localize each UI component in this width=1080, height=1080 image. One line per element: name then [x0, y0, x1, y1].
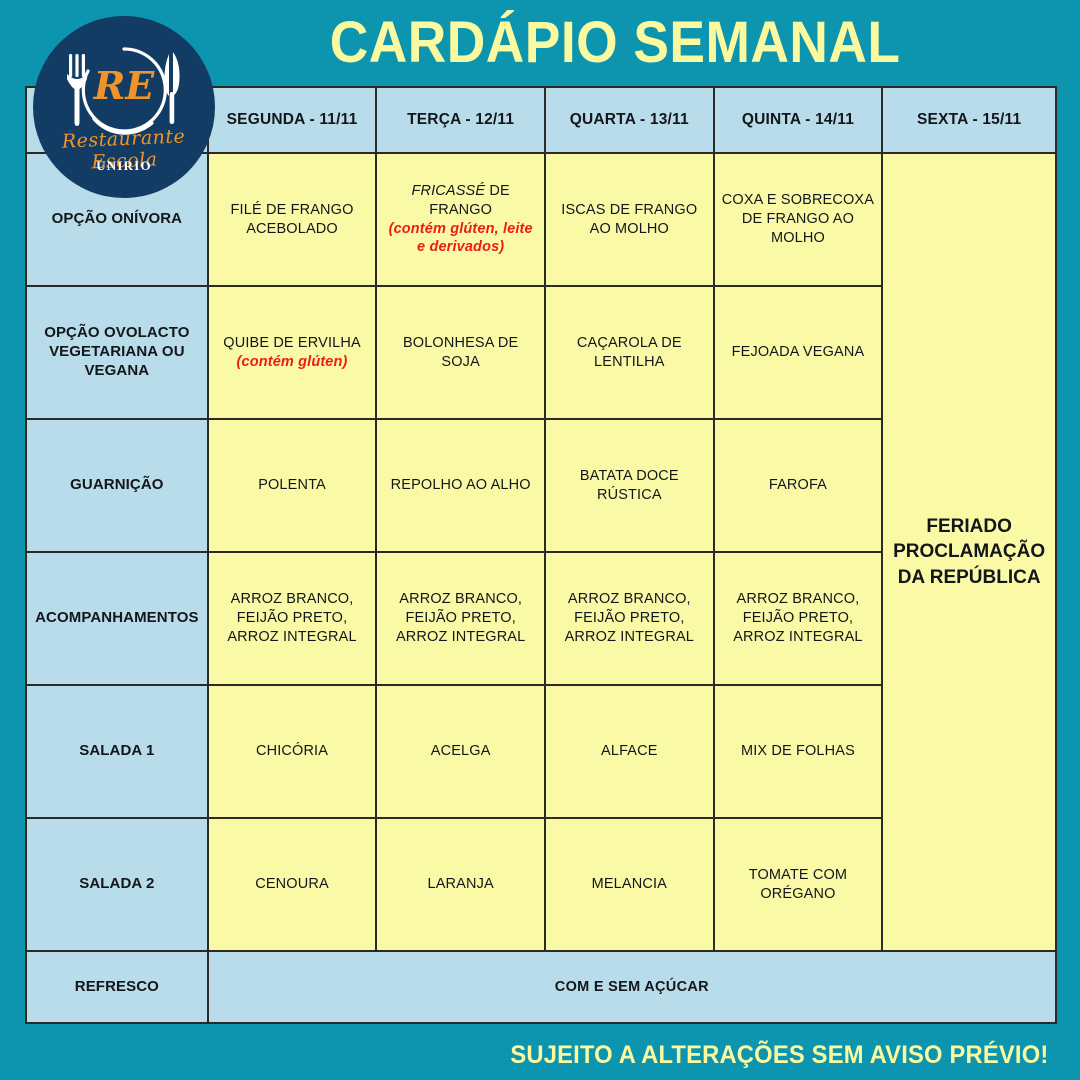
menu-cell-text: QUIBE DE ERVILHA [223, 335, 361, 351]
holiday-cell: FERIADO PROCLAMAÇÃO DA REPÚBLICA [882, 153, 1056, 951]
menu-cell-text: POLENTA [258, 477, 326, 493]
menu-cell: LARANJA [376, 818, 545, 951]
menu-cell: ARROZ BRANCO, FEIJÃO PRETO, ARROZ INTEGR… [208, 552, 377, 685]
row-label-acompanhamentos: ACOMPANHAMENTOS [26, 552, 208, 685]
page-title: CARDÁPIO SEMANAL [330, 14, 901, 72]
menu-cell-text: ACELGA [431, 743, 491, 759]
menu-cell: FRICASSÉ DE FRANGO(contém glúten, leite … [376, 153, 545, 286]
menu-cell-text: FILÉ DE FRANGO ACEBOLADO [231, 202, 354, 237]
day-header-quinta: QUINTA - 14/11 [714, 87, 883, 153]
menu-cell: COXA E SOBRECOXA DE FRANGO AO MOLHO [714, 153, 883, 286]
logo-institution-text: UNIRIO [33, 158, 215, 174]
menu-cell: ISCAS DE FRANGO AO MOLHO [545, 153, 714, 286]
row-label-vegetariana: OPÇÃO OVOLACTO VEGETARIANA OU VEGANA [26, 286, 208, 419]
row-label-salada-1: SALADA 1 [26, 685, 208, 818]
menu-cell: MELANCIA [545, 818, 714, 951]
menu-cell-text: FEJOADA VEGANA [732, 344, 865, 360]
day-header-segunda: SEGUNDA - 11/11 [208, 87, 377, 153]
menu-cell-text: REPOLHO AO ALHO [391, 477, 531, 493]
menu-cell-text: TOMATE COM ORÉGANO [749, 867, 847, 902]
menu-cell: CAÇAROLA DE LENTILHA [545, 286, 714, 419]
row-label-guarnicao: GUARNIÇÃO [26, 419, 208, 552]
menu-cell-text: LARANJA [428, 876, 494, 892]
menu-cell: ALFACE [545, 685, 714, 818]
menu-cell: ARROZ BRANCO, FEIJÃO PRETO, ARROZ INTEGR… [714, 552, 883, 685]
menu-cell-text: ARROZ BRANCO, FEIJÃO PRETO, ARROZ INTEGR… [565, 591, 694, 645]
day-header-sexta: SEXTA - 15/11 [882, 87, 1056, 153]
menu-cell: TOMATE COM ORÉGANO [714, 818, 883, 951]
menu-cell-text: BATATA DOCE RÚSTICA [580, 468, 679, 503]
allergen-note: (contém glúten) [215, 353, 370, 372]
menu-cell: CENOURA [208, 818, 377, 951]
menu-cell-text: ALFACE [601, 743, 658, 759]
row-label-salada-2: SALADA 2 [26, 818, 208, 951]
menu-cell: ACELGA [376, 685, 545, 818]
menu-cell-text: CAÇAROLA DE LENTILHA [577, 335, 682, 370]
menu-cell: FAROFA [714, 419, 883, 552]
menu-cell-text: ARROZ BRANCO, FEIJÃO PRETO, ARROZ INTEGR… [227, 591, 356, 645]
menu-cell: BATATA DOCE RÚSTICA [545, 419, 714, 552]
menu-cell: ARROZ BRANCO, FEIJÃO PRETO, ARROZ INTEGR… [545, 552, 714, 685]
menu-cell-text: FAROFA [769, 477, 827, 493]
menu-cell-text: ARROZ BRANCO, FEIJÃO PRETO, ARROZ INTEGR… [733, 591, 862, 645]
menu-cell-text: MIX DE FOLHAS [741, 743, 855, 759]
menu-cell: MIX DE FOLHAS [714, 685, 883, 818]
menu-cell: ARROZ BRANCO, FEIJÃO PRETO, ARROZ INTEGR… [376, 552, 545, 685]
menu-cell: CHICÓRIA [208, 685, 377, 818]
menu-cell: FILÉ DE FRANGO ACEBOLADO [208, 153, 377, 286]
restaurant-logo: RE Restaurante Escola UNIRIO [33, 16, 215, 198]
row-label-refresco: REFRESCO [26, 951, 208, 1023]
menu-cell-text: ARROZ BRANCO, FEIJÃO PRETO, ARROZ INTEGR… [396, 591, 525, 645]
footer-note: SUJEITO A ALTERAÇÕES SEM AVISO PRÉVIO! [510, 1041, 1048, 1070]
menu-cell: REPOLHO AO ALHO [376, 419, 545, 552]
allergen-note: (contém glúten, leite e derivados) [383, 220, 538, 258]
svg-text:RE: RE [93, 63, 156, 108]
table-row-refresco: REFRESCO COM E SEM AÇÚCAR [26, 951, 1056, 1023]
menu-cell: FEJOADA VEGANA [714, 286, 883, 419]
weekly-menu-table: SEGUNDA - 11/11 TERÇA - 12/11 QUARTA - 1… [25, 86, 1057, 1024]
menu-cell: POLENTA [208, 419, 377, 552]
menu-cell-text: CENOURA [255, 876, 329, 892]
refresco-value: COM E SEM AÇÚCAR [208, 951, 1056, 1023]
menu-cell-text: ISCAS DE FRANGO AO MOLHO [561, 202, 697, 237]
menu-cell: BOLONHESA DE SOJA [376, 286, 545, 419]
menu-cell-text: CHICÓRIA [256, 743, 328, 759]
day-header-terca: TERÇA - 12/11 [376, 87, 545, 153]
menu-cell-text: MELANCIA [592, 876, 667, 892]
menu-cell-text: COXA E SOBRECOXA DE FRANGO AO MOLHO [722, 192, 874, 246]
day-header-quarta: QUARTA - 13/11 [545, 87, 714, 153]
footer-bar: SUJEITO A ALTERAÇÕES SEM AVISO PRÉVIO! [0, 1030, 1080, 1080]
menu-cell: QUIBE DE ERVILHA(contém glúten) [208, 286, 377, 419]
menu-cell-text: BOLONHESA DE SOJA [403, 335, 518, 370]
menu-cell-emphasis: FRICASSÉ [411, 183, 485, 199]
